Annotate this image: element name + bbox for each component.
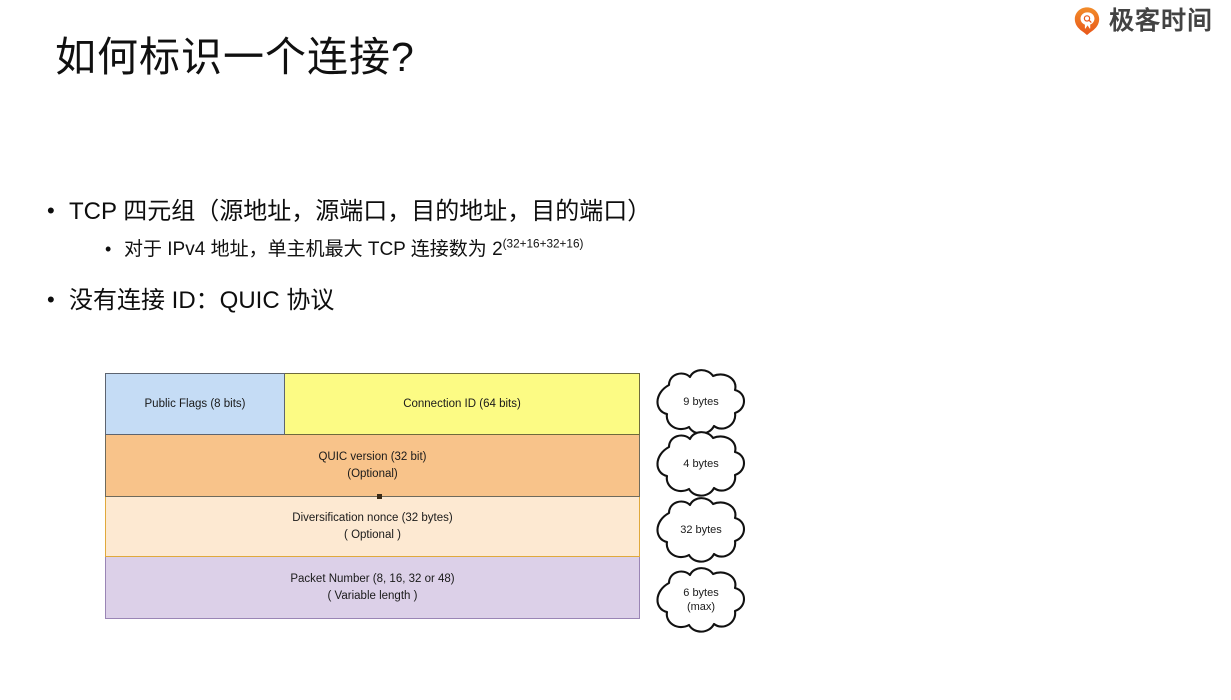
bullet-item-ipv4-max-connections: • 对于 IPv4 地址，单主机最大 TCP 连接数为 2(32+16+32+1… bbox=[105, 237, 997, 263]
brand-name: 极客时间 bbox=[1109, 9, 1213, 34]
page-title: 如何标识一个连接? bbox=[55, 23, 415, 83]
bullet-text: TCP 四元组（源地址，源端口，目的地址，目的端口） bbox=[69, 196, 651, 228]
packet-field-sublabel: (Optional) bbox=[347, 466, 398, 483]
bullet-list: • TCP 四元组（源地址，源端口，目的地址，目的端口） • 对于 IPv4 地… bbox=[47, 196, 997, 317]
cloud-callout-text: 4 bytes bbox=[645, 427, 755, 503]
packet-row-packet-number: Packet Number (8, 16, 32 or 48) ( Variab… bbox=[105, 557, 640, 619]
bullet-text: 对于 IPv4 地址，单主机最大 TCP 连接数为 2 bbox=[124, 239, 503, 260]
cloud-callout-4-bytes: 4 bytes bbox=[645, 427, 755, 503]
cloud-line-1: 9 bytes bbox=[683, 396, 718, 410]
packet-field-label: Public Flags (8 bits) bbox=[145, 396, 246, 413]
cloud-line-1: 6 bytes bbox=[683, 587, 718, 601]
packet-field-sublabel: ( Optional ) bbox=[344, 527, 401, 544]
cloud-callout-32-bytes: 32 bytes bbox=[645, 493, 755, 569]
packet-field-connection-id: Connection ID (64 bits) bbox=[285, 373, 640, 435]
bullet-marker-icon: • bbox=[47, 285, 69, 315]
byte-size-callouts: 9 bytes 4 bytes 32 bytes 6 bytes (max) bbox=[645, 365, 765, 640]
cloud-line-2: (max) bbox=[687, 601, 715, 615]
jikeshijian-logo-icon bbox=[1072, 6, 1102, 36]
packet-field-public-flags: Public Flags (8 bits) bbox=[105, 373, 285, 435]
cloud-callout-text: 32 bytes bbox=[645, 493, 755, 569]
quic-packet-header-diagram: Public Flags (8 bits) Connection ID (64 … bbox=[105, 373, 640, 619]
brand-logo: 极客时间 bbox=[1072, 6, 1213, 36]
exponent-text: (32+16+32+16) bbox=[503, 238, 584, 251]
bullet-marker-icon: • bbox=[105, 237, 124, 262]
packet-field-packet-number: Packet Number (8, 16, 32 or 48) ( Variab… bbox=[105, 557, 640, 619]
bullet-item-quic-no-connection-id: • 没有连接 ID：QUIC 协议 bbox=[47, 285, 997, 317]
bullet-item-tcp-tuple: • TCP 四元组（源地址，源端口，目的地址，目的端口） bbox=[47, 196, 997, 228]
packet-row-diversification-nonce: Diversification nonce (32 bytes) ( Optio… bbox=[105, 497, 640, 557]
cloud-line-1: 32 bytes bbox=[680, 524, 722, 538]
packet-field-label: Connection ID (64 bits) bbox=[403, 396, 521, 413]
cloud-line-1: 4 bytes bbox=[683, 458, 718, 472]
packet-field-quic-version: QUIC version (32 bit) (Optional) bbox=[105, 435, 640, 497]
bullet-text-wrapper: 对于 IPv4 地址，单主机最大 TCP 连接数为 2(32+16+32+16) bbox=[124, 237, 583, 263]
packet-row-quic-version: QUIC version (32 bit) (Optional) bbox=[105, 435, 640, 497]
field-boundary-marker-icon bbox=[377, 494, 382, 499]
packet-field-diversification-nonce: Diversification nonce (32 bytes) ( Optio… bbox=[105, 497, 640, 557]
bullet-marker-icon: • bbox=[47, 196, 69, 226]
cloud-callout-text: 6 bytes (max) bbox=[645, 563, 755, 639]
packet-field-label: QUIC version (32 bit) bbox=[318, 449, 426, 466]
packet-field-label: Diversification nonce (32 bytes) bbox=[292, 510, 452, 527]
packet-field-sublabel: ( Variable length ) bbox=[328, 588, 418, 605]
cloud-callout-6-bytes-max: 6 bytes (max) bbox=[645, 563, 755, 639]
packet-field-label: Packet Number (8, 16, 32 or 48) bbox=[290, 571, 454, 588]
bullet-text: 没有连接 ID：QUIC 协议 bbox=[69, 285, 334, 317]
packet-row-public-flags-connection-id: Public Flags (8 bits) Connection ID (64 … bbox=[105, 373, 640, 435]
